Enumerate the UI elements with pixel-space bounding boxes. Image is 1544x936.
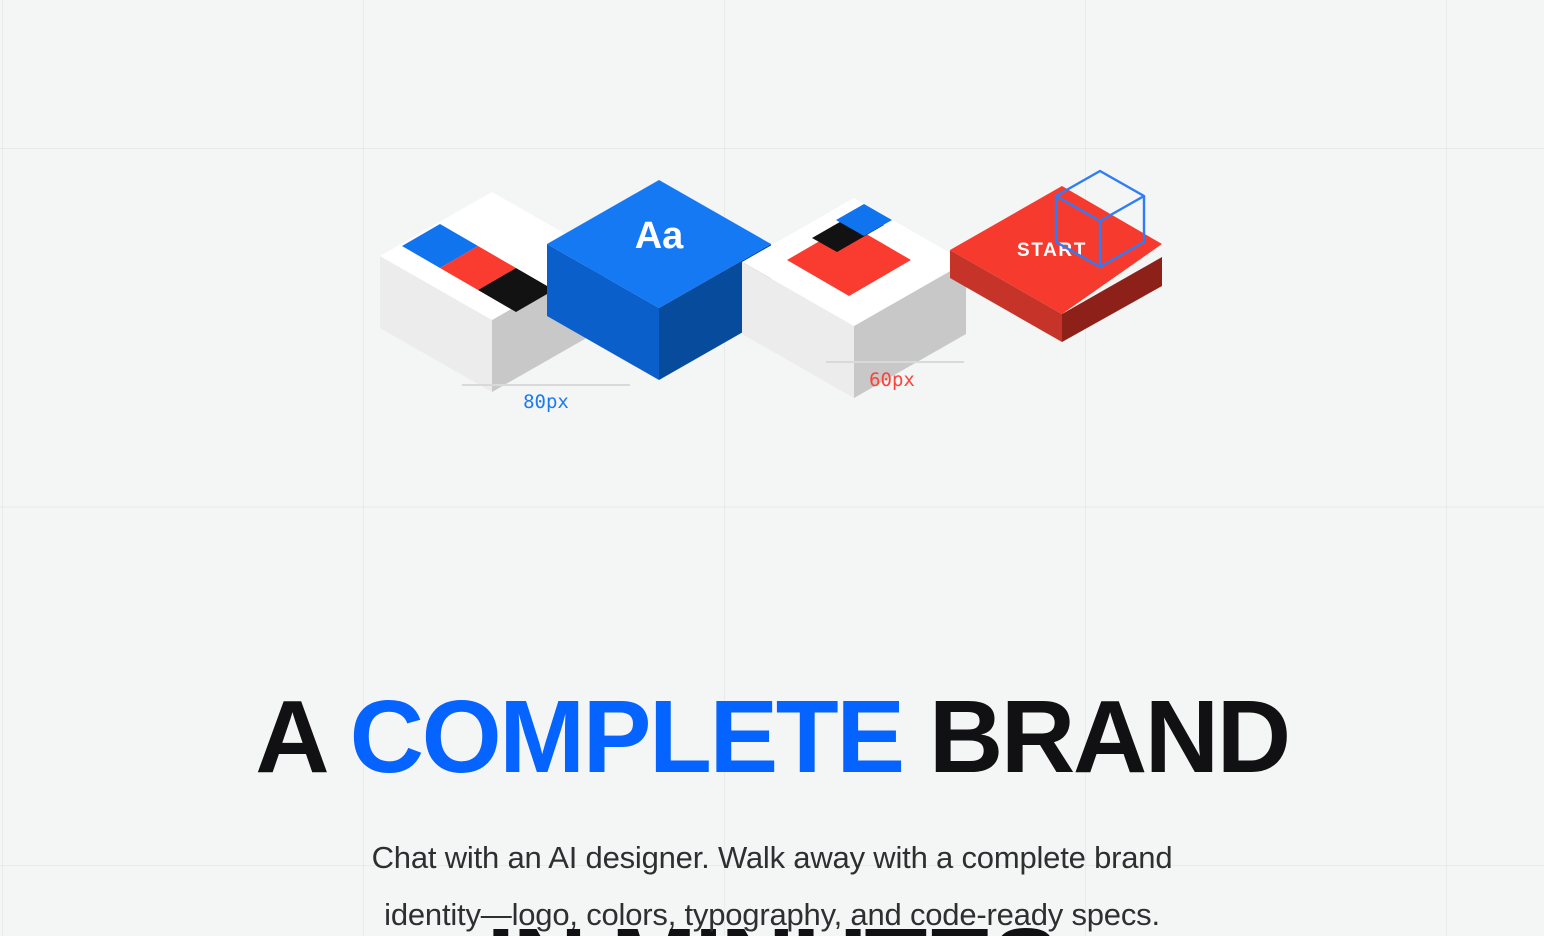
headline-word-a: A: [255, 679, 349, 794]
illustration-container: 80px Aa: [0, 168, 1544, 428]
page-subheadline: Chat with an AI designer. Walk away with…: [0, 829, 1544, 936]
headline-word-complete: COMPLETE: [350, 679, 903, 794]
headline-word-brand: BRAND: [903, 679, 1289, 794]
start-card-label: START: [1017, 240, 1087, 261]
iso-card-logo: [742, 198, 966, 398]
isometric-brand-kit-illustration: 80px Aa: [372, 168, 1172, 420]
iso-card-typography: Aa: [547, 180, 771, 380]
typography-card-label: Aa: [635, 215, 684, 257]
hero-section: 80px Aa: [0, 0, 1544, 936]
measurement-60px-label: 60px: [869, 369, 915, 391]
subheadline-line-1: Chat with an AI designer. Walk away with…: [0, 829, 1544, 886]
subheadline-line-2: identity—logo, colors, typography, and c…: [0, 886, 1544, 936]
measurement-80px-label: 80px: [523, 391, 569, 413]
headline-line-1: A COMPLETE BRAND: [0, 680, 1544, 794]
